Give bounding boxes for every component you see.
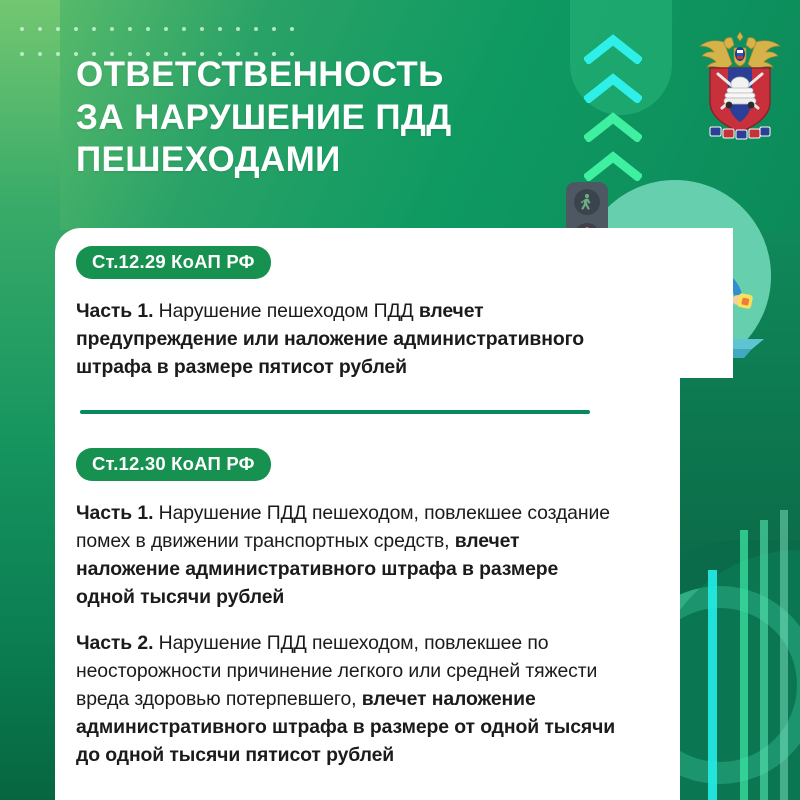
decorative-dot bbox=[110, 27, 114, 31]
decorative-dot bbox=[56, 52, 60, 56]
decorative-dot bbox=[164, 27, 168, 31]
decorative-dot bbox=[20, 27, 24, 31]
decorative-dot bbox=[290, 27, 294, 31]
decorative-dot bbox=[146, 27, 150, 31]
decorative-dot bbox=[92, 27, 96, 31]
decorative-dot bbox=[182, 27, 186, 31]
section-12-30: Ст.12.30 КоАП РФ Часть 1. Нарушение ПДД … bbox=[76, 448, 616, 769]
content-card-notch-upper bbox=[613, 228, 733, 378]
text-run-bold: Часть 2. bbox=[76, 632, 153, 654]
text-run: Нарушение ПДД пешеходом, повлекшее созда… bbox=[76, 502, 610, 552]
decorative-dot bbox=[200, 27, 204, 31]
decorative-dot bbox=[254, 27, 258, 31]
decorative-dot bbox=[20, 52, 24, 56]
paragraph: Часть 2. Нарушение ПДД пешеходом, повлек… bbox=[76, 630, 616, 770]
decorative-dot bbox=[74, 27, 78, 31]
title-line-3: ПЕШЕХОДАМИ bbox=[76, 139, 596, 182]
section-body-text: Часть 1. Нарушение ПДД пешеходом, повлек… bbox=[76, 500, 616, 769]
article-badge[interactable]: Ст.12.29 КоАП РФ bbox=[76, 246, 271, 279]
decorative-dot bbox=[56, 27, 60, 31]
section-divider bbox=[80, 410, 590, 414]
poster-root: ОТВЕТСТВЕННОСТЬ ЗА НАРУШЕНИЕ ПДД ПЕШЕХОД… bbox=[0, 0, 800, 800]
decorative-dot bbox=[38, 52, 42, 56]
decorative-dot bbox=[236, 27, 240, 31]
section-body-text: Часть 1. Нарушение пешеходом ПДД влечет … bbox=[76, 298, 596, 382]
article-badge[interactable]: Ст.12.30 КоАП РФ bbox=[76, 448, 271, 481]
paragraph: Часть 1. Нарушение пешеходом ПДД влечет … bbox=[76, 298, 596, 382]
background-left-strip bbox=[0, 0, 60, 800]
paragraph: Часть 1. Нарушение ПДД пешеходом, повлек… bbox=[76, 500, 616, 612]
text-run-bold: Часть 1. bbox=[76, 502, 153, 524]
decorative-dot bbox=[272, 27, 276, 31]
poster-title: ОТВЕТСТВЕННОСТЬ ЗА НАРУШЕНИЕ ПДД ПЕШЕХОД… bbox=[76, 54, 596, 182]
title-line-1: ОТВЕТСТВЕННОСТЬ bbox=[76, 54, 596, 97]
decorative-dot bbox=[38, 27, 42, 31]
text-run-bold: Часть 1. bbox=[76, 300, 153, 322]
title-line-2: ЗА НАРУШЕНИЕ ПДД bbox=[76, 97, 596, 140]
section-12-29: Ст.12.29 КоАП РФ Часть 1. Нарушение пеше… bbox=[76, 246, 596, 382]
decorative-dot bbox=[218, 27, 222, 31]
content-card-notch-lower bbox=[613, 378, 680, 800]
text-run: Нарушение пешеходом ПДД bbox=[153, 300, 418, 322]
mvd-emblem bbox=[694, 26, 786, 146]
chevron-arrows-decoration bbox=[584, 34, 664, 182]
decorative-dot bbox=[128, 27, 132, 31]
